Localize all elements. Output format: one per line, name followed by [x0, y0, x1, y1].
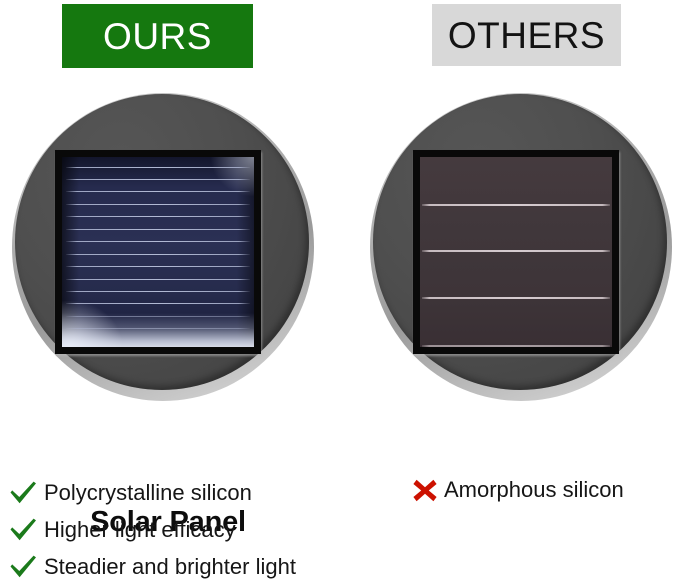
solar-cell-surface-others: [420, 157, 612, 347]
feature-item: Steadier and brighter light: [8, 548, 356, 585]
column-others: Solar Panel: [362, 88, 679, 408]
badge-ours: OURS: [62, 4, 253, 68]
panel-bottom-edge-line: [422, 345, 610, 347]
busbar-line: [66, 216, 250, 217]
feature-label: Amorphous silicon: [444, 479, 624, 501]
check-icon: [8, 553, 38, 580]
busbar-lines-ours: [62, 157, 254, 347]
column-ours: Solar Panel: [4, 88, 324, 408]
feature-item: Amorphous silicon: [412, 474, 674, 506]
busbar-line: [66, 279, 250, 280]
busbar-line: [66, 179, 250, 180]
solar-cell-surface-ours: [62, 157, 254, 347]
busbar-line: [66, 303, 250, 304]
busbar-line: [66, 229, 250, 230]
panel-divider-line: [422, 297, 610, 299]
feature-list-others: Amorphous silicon: [412, 474, 674, 506]
solar-panel-circle-ours: [12, 93, 314, 401]
check-icon: [8, 479, 38, 506]
check-icon: [8, 516, 38, 543]
feature-label: Higher light efficacy: [44, 519, 236, 541]
busbar-line: [66, 266, 250, 267]
busbar-line: [66, 241, 250, 242]
busbar-line: [66, 167, 250, 168]
feature-label: Steadier and brighter light: [44, 556, 296, 578]
busbar-line: [66, 316, 250, 317]
cross-icon: [412, 478, 438, 503]
divider-lines-others: [420, 157, 612, 347]
busbar-line: [66, 191, 250, 192]
feature-item: Polycrystalline silicon: [8, 474, 356, 511]
feature-list-ours: Polycrystalline siliconHigher light effi…: [8, 474, 356, 585]
busbar-line: [66, 254, 250, 255]
solar-cell-frame-ours: [55, 150, 261, 354]
feature-label: Polycrystalline silicon: [44, 482, 252, 504]
busbar-line: [66, 291, 250, 292]
panel-divider-line: [422, 250, 610, 252]
solar-cell-frame-others: [413, 150, 619, 354]
panel-divider-line: [422, 204, 610, 206]
solar-panel-circle-others: [370, 93, 672, 401]
feature-item: Higher light efficacy: [8, 511, 356, 548]
busbar-line: [66, 328, 250, 329]
comparison-infographic: OURS OTHERS Solar Panel: [0, 0, 679, 587]
busbar-line: [66, 204, 250, 205]
badge-others: OTHERS: [432, 4, 621, 66]
